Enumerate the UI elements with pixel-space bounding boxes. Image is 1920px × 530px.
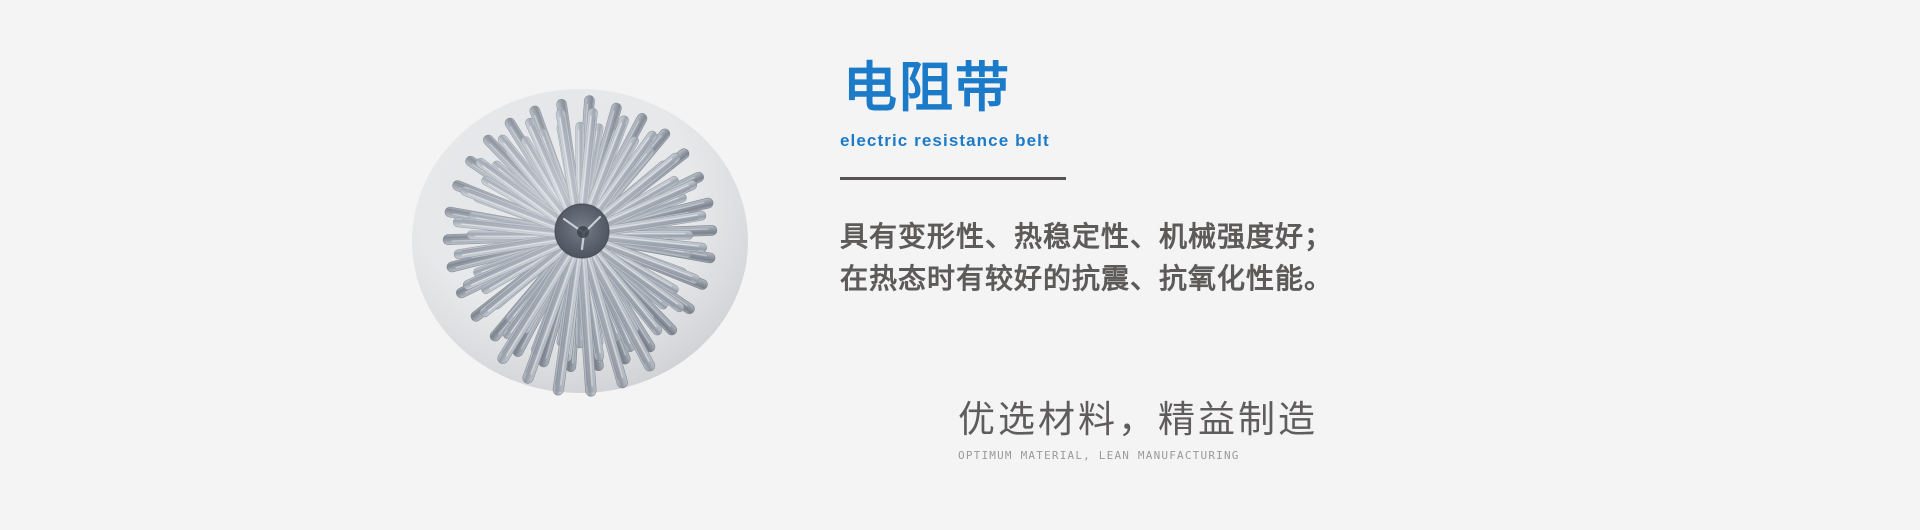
- title-divider: [840, 177, 1066, 180]
- page-subtitle-english: electric resistance belt: [840, 130, 1740, 152]
- tagline-english: OPTIMUM MATERIAL, LEAN MANUFACTURING: [958, 448, 1378, 464]
- page-title: 电阻带: [843, 56, 1740, 120]
- tagline-block: 优选材料，精益制造 OPTIMUM MATERIAL, LEAN MANUFAC…: [958, 396, 1378, 464]
- product-image: [360, 60, 800, 420]
- tagline-chinese: 优选材料，精益制造: [958, 396, 1378, 444]
- description-line-2: 在热态时有较好的抗震、抗氧化性能。: [840, 258, 1740, 300]
- product-description: 具有变形性、热稳定性、机械强度好； 在热态时有较好的抗震、抗氧化性能。: [840, 216, 1740, 300]
- description-line-1: 具有变形性、热稳定性、机械强度好；: [840, 216, 1740, 258]
- product-banner: 电阻带 electric resistance belt 具有变形性、热稳定性、…: [0, 0, 1920, 530]
